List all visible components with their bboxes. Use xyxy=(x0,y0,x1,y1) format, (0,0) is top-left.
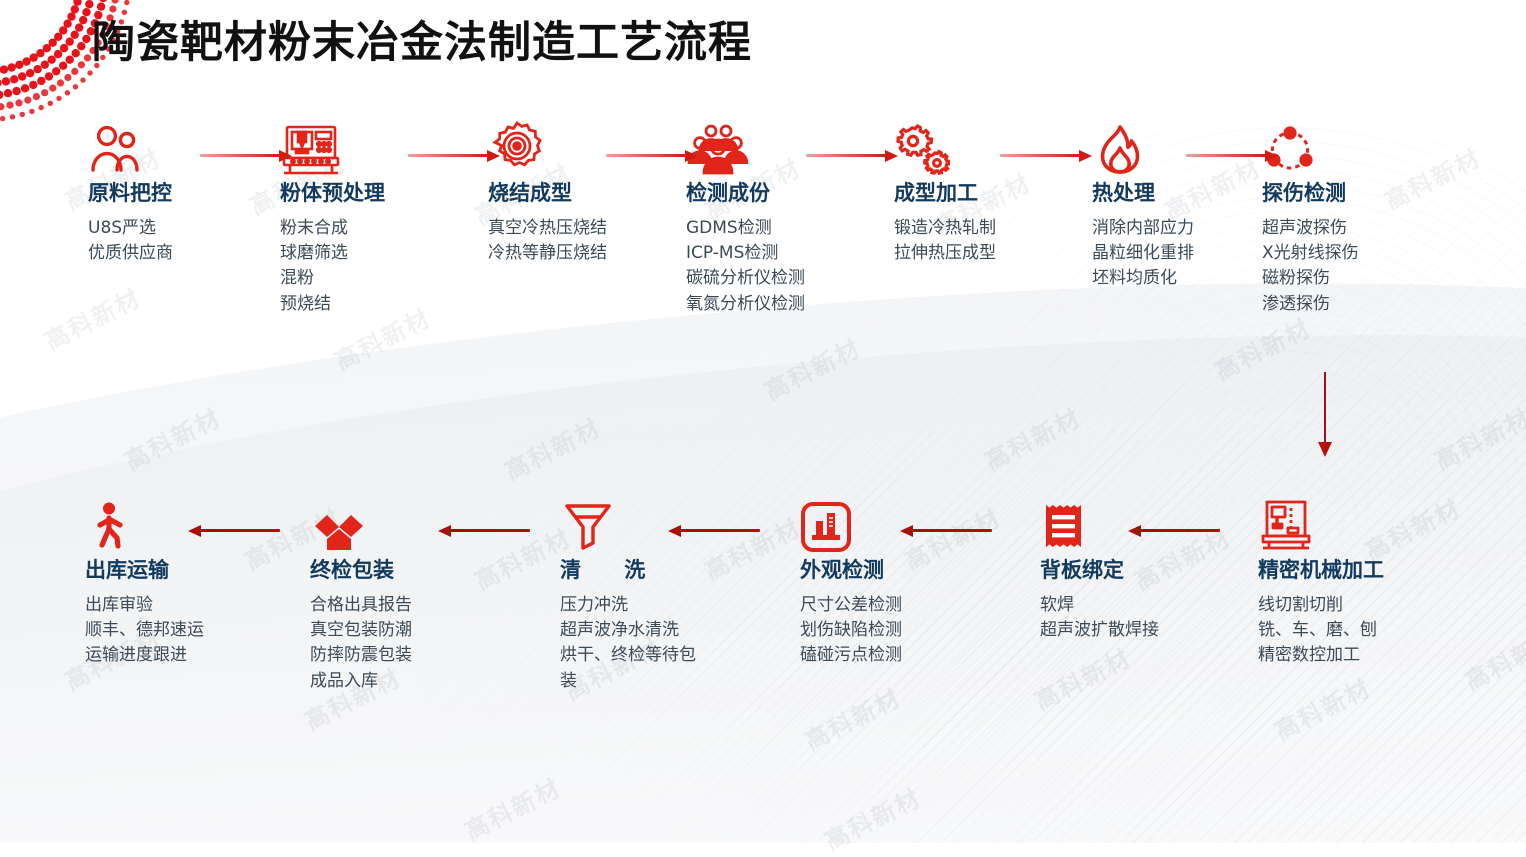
arrow-shaft xyxy=(200,154,280,157)
process-step-detail-line: 碳硫分析仪检测 xyxy=(686,266,805,291)
process-step-detail-line: 合格出具报告 xyxy=(310,593,412,618)
process-step: 背板绑定软焊超声波扩散焊接 xyxy=(1040,495,1159,643)
flow-arrow-right xyxy=(606,148,698,162)
process-step-detail-list: 消除内部应力晶粒细化重排坯料均质化 xyxy=(1092,216,1194,291)
process-step-title: 精密机械加工 xyxy=(1258,559,1384,582)
process-step-detail-line: 真空包装防潮 xyxy=(310,618,412,643)
process-step-detail-line: 线切割切削 xyxy=(1258,593,1384,618)
process-step: 原料把控U8S严选优质供应商 xyxy=(88,118,173,266)
people-team-icon xyxy=(686,118,805,176)
process-step-detail-list: 超声波探伤X光射线探伤磁粉探伤渗透探伤 xyxy=(1262,216,1359,317)
arrow-head xyxy=(1318,442,1332,457)
cnc-machine-icon xyxy=(1258,495,1384,553)
process-step-detail-line: 顺丰、德邦速运 xyxy=(85,618,204,643)
process-step-title: 清 洗 xyxy=(560,559,712,582)
arrow-shaft xyxy=(408,154,488,157)
process-step: 烧结成型真空冷热压烧结冷热等静压烧结 xyxy=(488,118,607,266)
arrow-head xyxy=(1079,150,1092,162)
process-step: 成型加工锻造冷热轧制拉伸热压成型 xyxy=(894,118,996,266)
process-step-detail-line: U8S严选 xyxy=(88,216,173,241)
process-step-detail-line: 优质供应商 xyxy=(88,241,173,266)
process-step-detail-line: 渗透探伤 xyxy=(1262,292,1359,317)
process-step-title: 原料把控 xyxy=(88,182,173,205)
arrow-head xyxy=(1265,150,1278,162)
molecule-nodes-icon xyxy=(1262,118,1359,176)
arrow-head xyxy=(685,150,698,162)
process-step-detail-line: 精密数控加工 xyxy=(1258,643,1384,668)
arrow-head xyxy=(279,150,292,162)
process-step: 粉体预处理粉末合成球磨筛选混粉预烧结 xyxy=(280,118,385,317)
arrow-head xyxy=(1128,525,1141,537)
inspection-screen-icon xyxy=(800,495,902,553)
users-group-icon xyxy=(88,118,173,176)
arrow-head xyxy=(188,525,201,537)
process-step-title: 烧结成型 xyxy=(488,182,607,205)
process-step-title: 出库运输 xyxy=(85,559,204,582)
process-step-title: 粉体预处理 xyxy=(280,182,385,205)
arrow-shaft xyxy=(200,529,280,532)
process-step-detail-line: 出库审验 xyxy=(85,593,204,618)
process-step-detail-line: 磁粉探伤 xyxy=(1262,266,1359,291)
page-title: 陶瓷靶材粉末冶金法制造工艺流程 xyxy=(92,8,752,70)
process-step-detail-line: 晶粒细化重排 xyxy=(1092,241,1194,266)
process-step-detail-list: 尺寸公差检测划伤缺陷检测磕碰污点检测 xyxy=(800,593,902,668)
arrow-shaft xyxy=(1000,154,1080,157)
flame-icon xyxy=(1092,118,1194,176)
process-step-detail-line: 真空冷热压烧结 xyxy=(488,216,607,241)
process-step-detail-line: 尺寸公差检测 xyxy=(800,593,902,618)
flow-arrow-left xyxy=(900,523,992,537)
gears-icon xyxy=(894,118,996,176)
process-step-detail-line: GDMS检测 xyxy=(686,216,805,241)
flow-arrow-left xyxy=(668,523,760,537)
process-step-detail-line: ICP-MS检测 xyxy=(686,241,805,266)
process-step-title: 热处理 xyxy=(1092,182,1194,205)
process-step-detail-line: 成品入库 xyxy=(310,669,412,694)
process-step-detail-line: 氧氮分析仪检测 xyxy=(686,292,805,317)
open-box-icon xyxy=(310,495,412,553)
process-step-detail-line: 超声波探伤 xyxy=(1262,216,1359,241)
process-step: 检测成份GDMS检测ICP-MS检测碳硫分析仪检测氧氮分析仪检测 xyxy=(686,118,805,317)
flow-arrow-right xyxy=(408,148,500,162)
flow-arrow-right xyxy=(200,148,292,162)
arrow-head xyxy=(885,150,898,162)
process-step-detail-line: 磕碰污点检测 xyxy=(800,643,902,668)
powder-machine-icon xyxy=(280,118,385,176)
process-step-detail-line: 超声波净水清洗 xyxy=(560,618,712,643)
arrow-head xyxy=(900,525,913,537)
process-step: 终检包装合格出具报告真空包装防潮防摔防震包装成品入库 xyxy=(310,495,412,694)
process-step-detail-list: 锻造冷热轧制拉伸热压成型 xyxy=(894,216,996,266)
process-step-detail-list: U8S严选优质供应商 xyxy=(88,216,173,266)
arrow-shaft xyxy=(450,529,530,532)
flow-arrow-right xyxy=(1000,148,1092,162)
arrow-shaft xyxy=(1140,529,1220,532)
process-step-detail-line: 冷热等静压烧结 xyxy=(488,241,607,266)
flow-arrow-down xyxy=(1318,372,1332,460)
process-step-detail-line: 锻造冷热轧制 xyxy=(894,216,996,241)
process-step-detail-line: 超声波扩散焊接 xyxy=(1040,618,1159,643)
process-step-detail-list: 合格出具报告真空包装防潮防摔防震包装成品入库 xyxy=(310,593,412,694)
flow-arrow-left xyxy=(1128,523,1220,537)
arrow-shaft xyxy=(680,529,760,532)
process-step-detail-list: 粉末合成球磨筛选混粉预烧结 xyxy=(280,216,385,317)
process-step-title: 终检包装 xyxy=(310,559,412,582)
process-step-detail-list: 软焊超声波扩散焊接 xyxy=(1040,593,1159,643)
process-step-detail-line: 软焊 xyxy=(1040,593,1159,618)
arrow-shaft xyxy=(606,154,686,157)
process-step: 出库运输出库审验顺丰、德邦速运运输进度跟进 xyxy=(85,495,204,669)
arrow-shaft xyxy=(806,154,886,157)
flow-arrow-right xyxy=(1186,148,1278,162)
process-step: 精密机械加工线切割切削铣、车、磨、刨精密数控加工 xyxy=(1258,495,1384,669)
process-step-detail-line: X光射线探伤 xyxy=(1262,241,1359,266)
process-step-detail-line: 划伤缺陷检测 xyxy=(800,618,902,643)
process-step-detail-line: 压力冲洗 xyxy=(560,593,712,618)
walking-person-icon xyxy=(85,495,204,553)
process-step-detail-line: 铣、车、磨、刨 xyxy=(1258,618,1384,643)
process-step-detail-line: 防摔防震包装 xyxy=(310,643,412,668)
process-step-detail-line: 消除内部应力 xyxy=(1092,216,1194,241)
process-step: 外观检测尺寸公差检测划伤缺陷检测磕碰污点检测 xyxy=(800,495,902,669)
process-step-detail-line: 坯料均质化 xyxy=(1092,266,1194,291)
arrow-shaft xyxy=(1186,154,1266,157)
process-step-title: 外观检测 xyxy=(800,559,902,582)
process-step-title: 成型加工 xyxy=(894,182,996,205)
process-step-detail-list: 压力冲洗超声波净水清洗烘干、终检等待包装 xyxy=(560,593,712,694)
process-step-detail-line: 预烧结 xyxy=(280,292,385,317)
process-step-detail-list: 线切割切削铣、车、磨、刨精密数控加工 xyxy=(1258,593,1384,668)
process-step-title: 检测成份 xyxy=(686,182,805,205)
process-step-detail-line: 混粉 xyxy=(280,266,385,291)
process-step-detail-list: 真空冷热压烧结冷热等静压烧结 xyxy=(488,216,607,266)
flow-arrow-left xyxy=(438,523,530,537)
process-step-detail-line: 烘干、终检等待包装 xyxy=(560,643,712,693)
process-step-detail-line: 球磨筛选 xyxy=(280,241,385,266)
process-step-detail-list: GDMS检测ICP-MS检测碳硫分析仪检测氧氮分析仪检测 xyxy=(686,216,805,317)
sintering-gear-icon xyxy=(488,118,607,176)
arrow-head xyxy=(487,150,500,162)
flow-arrow-left xyxy=(188,523,280,537)
process-step-title: 探伤检测 xyxy=(1262,182,1359,205)
arrow-shaft xyxy=(912,529,992,532)
process-step-title: 背板绑定 xyxy=(1040,559,1159,582)
flow-arrow-right xyxy=(806,148,898,162)
process-step-detail-line: 拉伸热压成型 xyxy=(894,241,996,266)
process-step-detail-list: 出库审验顺丰、德邦速运运输进度跟进 xyxy=(85,593,204,668)
process-step-detail-line: 粉末合成 xyxy=(280,216,385,241)
arrow-head xyxy=(438,525,451,537)
arrow-shaft xyxy=(1324,372,1326,446)
arrow-head xyxy=(668,525,681,537)
process-step: 热处理消除内部应力晶粒细化重排坯料均质化 xyxy=(1092,118,1194,292)
process-step-detail-line: 运输进度跟进 xyxy=(85,643,204,668)
